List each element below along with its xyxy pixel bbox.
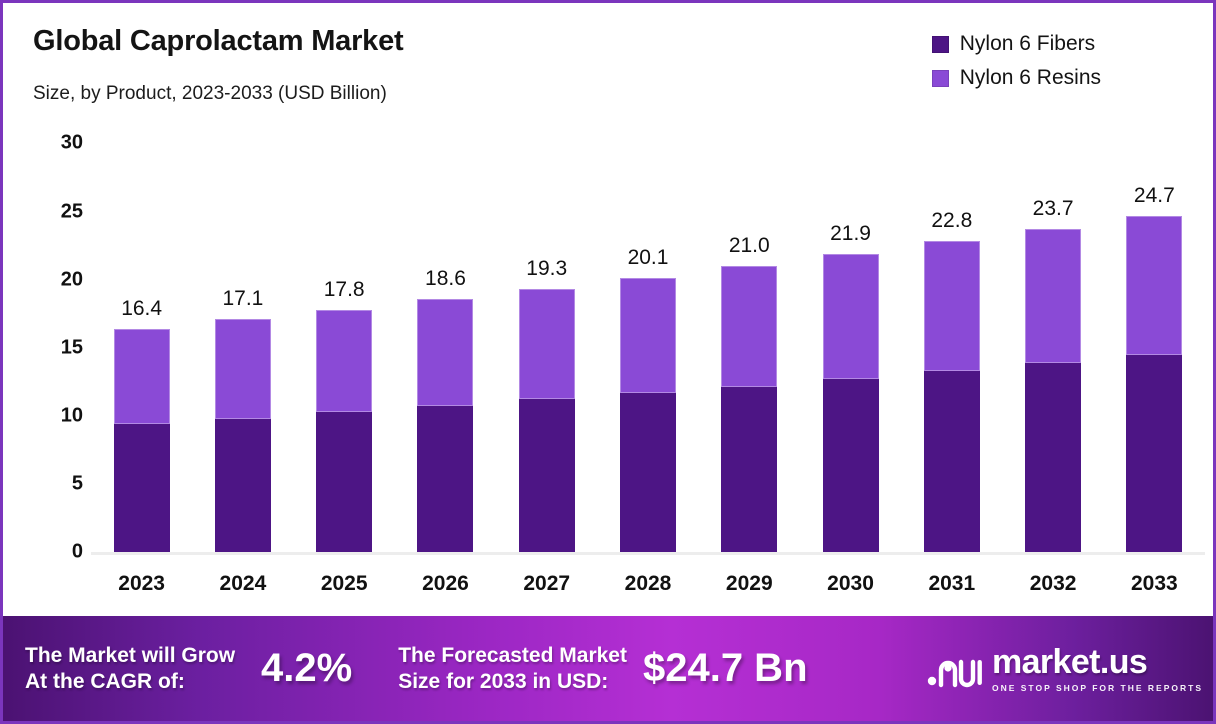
bar-value-label: 22.8 (931, 209, 972, 233)
market-us-logo-tagline: ONE STOP SHOP FOR THE REPORTS (992, 683, 1203, 693)
forecast-label-line2: Size for 2033 in USD: (398, 669, 627, 695)
bar-segment-nylon-6-resins[interactable] (417, 299, 473, 407)
bar-segment-nylon-6-fibers[interactable] (519, 399, 575, 552)
x-axis-tick: 2032 (1030, 572, 1077, 596)
bar-segment-nylon-6-fibers[interactable] (316, 412, 372, 552)
x-axis-tick: 2023 (118, 572, 165, 596)
bar-segment-nylon-6-resins[interactable] (519, 289, 575, 399)
cagr-block: The Market will Grow At the CAGR of: 4.2… (25, 643, 352, 694)
bar-segment-nylon-6-resins[interactable] (823, 254, 879, 379)
bar-segment-nylon-6-resins[interactable] (620, 278, 676, 392)
legend-label: Nylon 6 Fibers (960, 32, 1095, 56)
chart-subtitle: Size, by Product, 2023-2033 (USD Billion… (33, 83, 387, 105)
bar-group[interactable]: 18.6 (417, 299, 473, 552)
forecast-label: The Forecasted Market Size for 2033 in U… (398, 643, 627, 694)
bar-group[interactable]: 24.7 (1126, 216, 1182, 552)
legend-item-nylon-6-fibers[interactable]: Nylon 6 Fibers (932, 27, 1101, 61)
y-axis-tick: 20 (3, 268, 83, 291)
bar-segment-nylon-6-fibers[interactable] (924, 371, 980, 552)
legend-label: Nylon 6 Resins (960, 66, 1101, 90)
bar-segment-nylon-6-resins[interactable] (1126, 216, 1182, 355)
bar-group[interactable]: 21.0 (721, 266, 777, 552)
cagr-label: The Market will Grow At the CAGR of: (25, 643, 235, 694)
bar-segment-nylon-6-fibers[interactable] (114, 424, 170, 552)
bar-segment-nylon-6-fibers[interactable] (823, 379, 879, 552)
bar-group[interactable]: 23.7 (1025, 229, 1081, 552)
summary-banner: The Market will Grow At the CAGR of: 4.2… (3, 616, 1216, 721)
bar-group[interactable]: 20.1 (620, 278, 676, 552)
bar-value-label: 21.9 (830, 222, 871, 246)
legend-item-nylon-6-resins[interactable]: Nylon 6 Resins (932, 61, 1101, 95)
bar-segment-nylon-6-resins[interactable] (1025, 229, 1081, 362)
page-title: Global Caprolactam Market (33, 25, 404, 58)
market-us-logo-text: market.us (992, 645, 1203, 679)
bar-group[interactable]: 16.4 (114, 329, 170, 552)
bar-group[interactable]: 19.3 (519, 289, 575, 552)
bar-segment-nylon-6-resins[interactable] (924, 241, 980, 370)
forecast-block: The Forecasted Market Size for 2033 in U… (398, 643, 807, 694)
y-axis-tick: 25 (3, 200, 83, 223)
bar-group[interactable]: 21.9 (823, 254, 879, 552)
x-axis-tick: 2033 (1131, 572, 1178, 596)
chart-legend: Nylon 6 FibersNylon 6 Resins (932, 27, 1101, 95)
bar-group[interactable]: 17.8 (316, 310, 372, 552)
x-axis-tick: 2027 (523, 572, 570, 596)
bar-value-label: 16.4 (121, 297, 162, 321)
x-axis-tick: 2031 (928, 572, 975, 596)
x-axis-tick: 2029 (726, 572, 773, 596)
bar-value-label: 17.1 (222, 287, 263, 311)
bar-segment-nylon-6-fibers[interactable] (417, 406, 473, 552)
bar-value-label: 20.1 (628, 246, 669, 270)
cagr-label-line1: The Market will Grow (25, 643, 235, 669)
chart-card: Global Caprolactam Market Size, by Produ… (0, 0, 1216, 724)
y-axis-tick: 0 (3, 541, 83, 564)
bar-segment-nylon-6-fibers[interactable] (721, 387, 777, 552)
y-axis-tick: 30 (3, 132, 83, 155)
x-axis-tick: 2026 (422, 572, 469, 596)
bar-value-label: 23.7 (1033, 197, 1074, 221)
legend-swatch-icon (932, 70, 949, 87)
bar-segment-nylon-6-fibers[interactable] (620, 393, 676, 552)
bar-segment-nylon-6-resins[interactable] (721, 266, 777, 387)
bar-group[interactable]: 17.1 (215, 319, 271, 552)
bar-value-label: 17.8 (324, 278, 365, 302)
bar-series-container: 16.4202317.1202417.8202518.6202619.32027… (91, 123, 1205, 618)
bar-group[interactable]: 22.8 (924, 241, 980, 552)
chart-header: Global Caprolactam Market Size, by Produ… (3, 3, 1213, 123)
bar-segment-nylon-6-resins[interactable] (316, 310, 372, 412)
y-axis-tick: 10 (3, 404, 83, 427)
market-us-logo-icon (927, 648, 983, 690)
y-axis-tick: 5 (3, 472, 83, 495)
legend-swatch-icon (932, 36, 949, 53)
market-us-logo[interactable]: market.us ONE STOP SHOP FOR THE REPORTS (927, 645, 1203, 693)
bar-value-label: 19.3 (526, 257, 567, 281)
x-axis-tick: 2025 (321, 572, 368, 596)
bar-segment-nylon-6-fibers[interactable] (215, 419, 271, 552)
bar-segment-nylon-6-fibers[interactable] (1025, 363, 1081, 552)
x-axis-tick: 2030 (827, 572, 874, 596)
cagr-label-line2: At the CAGR of: (25, 669, 235, 695)
cagr-value: 4.2% (261, 646, 352, 691)
chart-plot-area: 051015202530 16.4202317.1202417.8202518.… (3, 123, 1216, 618)
forecast-value: $24.7 Bn (643, 646, 808, 691)
forecast-label-line1: The Forecasted Market (398, 643, 627, 669)
y-axis-tick: 15 (3, 336, 83, 359)
bar-segment-nylon-6-resins[interactable] (215, 319, 271, 418)
bar-segment-nylon-6-fibers[interactable] (1126, 355, 1182, 552)
x-axis-tick: 2028 (625, 572, 672, 596)
bar-value-label: 18.6 (425, 267, 466, 291)
bar-value-label: 21.0 (729, 234, 770, 258)
bar-value-label: 24.7 (1134, 184, 1175, 208)
x-axis-tick: 2024 (220, 572, 267, 596)
bar-segment-nylon-6-resins[interactable] (114, 329, 170, 424)
